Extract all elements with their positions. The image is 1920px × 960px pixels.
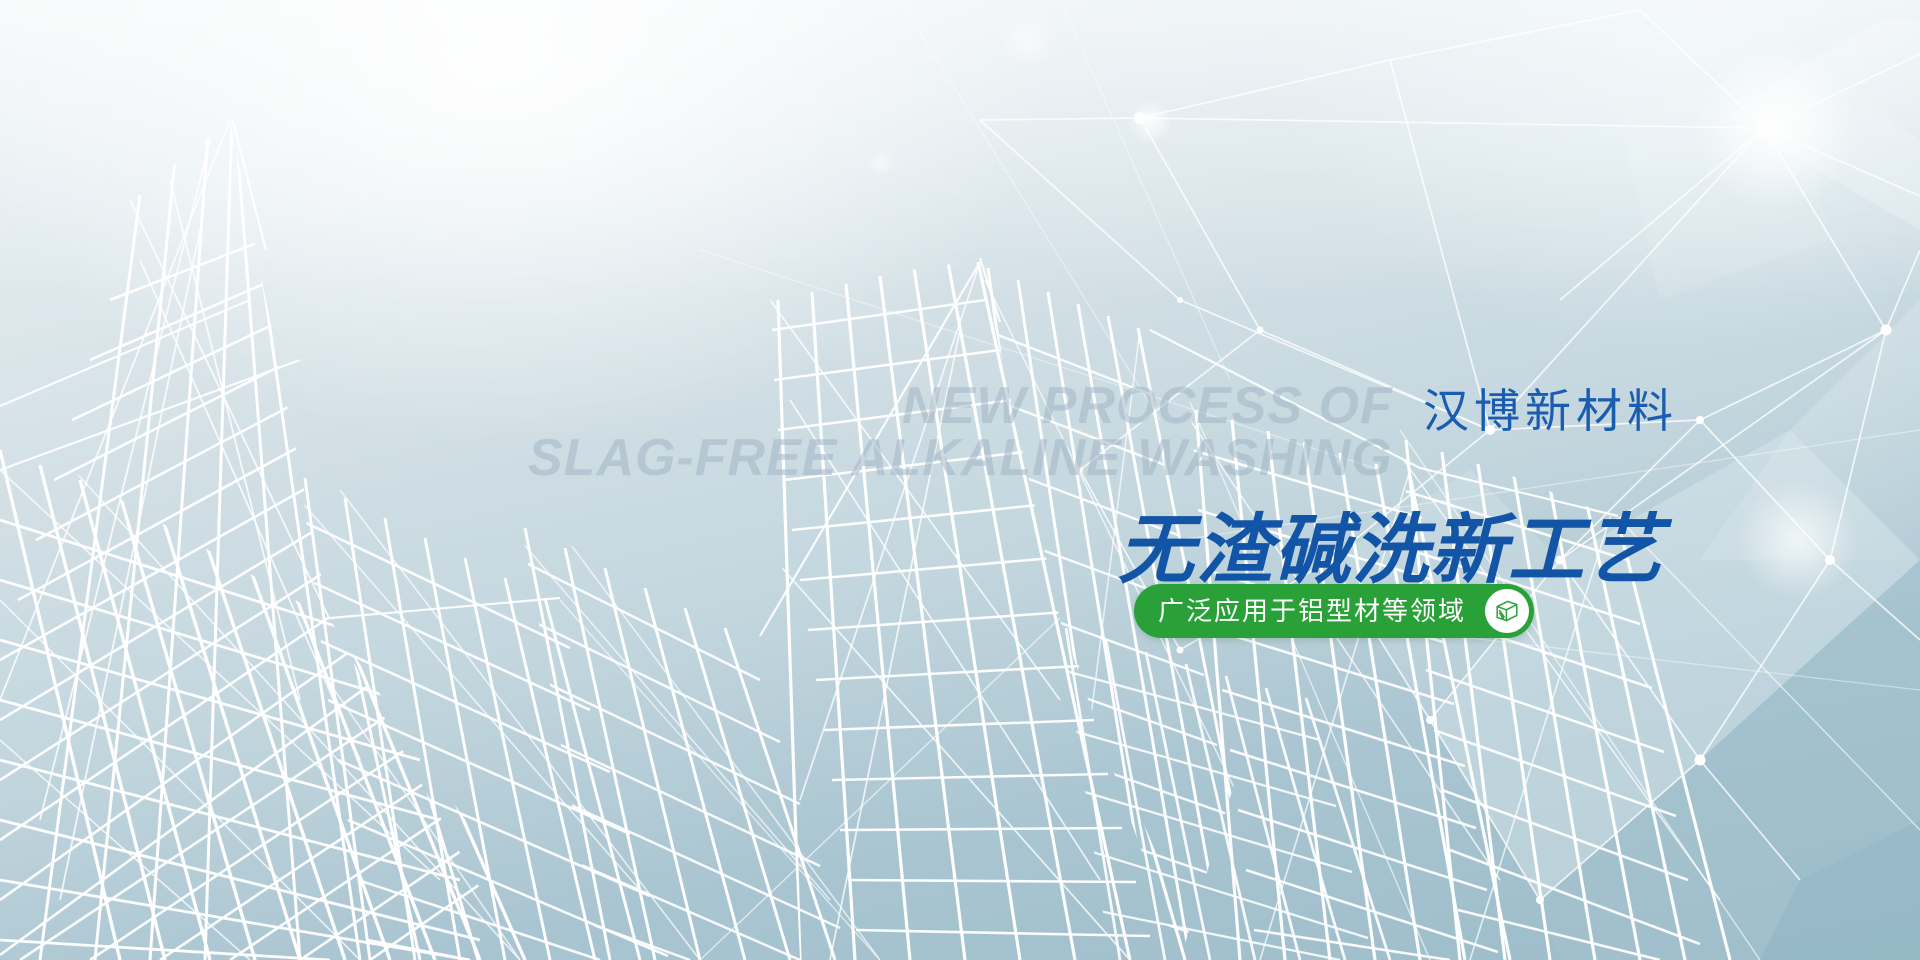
light-bloom-node <box>1738 480 1858 600</box>
light-bloom-node <box>1128 100 1172 144</box>
brand-name: 汉博新材料 <box>1423 386 1678 437</box>
top-light-sheen <box>0 0 1920 300</box>
banner-copy-block: NEW PROCESS OF SLAG-FREE ALKALINE WASHIN… <box>1120 380 1680 650</box>
page-title: 无渣碱洗新工艺 <box>1118 513 1664 589</box>
application-badge-label: 广泛应用于铝型材等领域 <box>1158 598 1466 624</box>
ghost-text-line-1: NEW PROCESS OF <box>902 380 1393 432</box>
light-bloom-node <box>1694 46 1858 210</box>
ghost-text-line-2: SLAG-FREE ALKALINE WASHING <box>528 432 1393 484</box>
light-bloom-node <box>1000 12 1056 68</box>
application-badge[interactable]: 广泛应用于铝型材等领域 <box>1134 584 1534 638</box>
aluminium-profile-icon <box>1485 589 1529 633</box>
light-bloom-node <box>868 150 894 176</box>
hero-banner: NEW PROCESS OF SLAG-FREE ALKALINE WASHIN… <box>0 0 1920 960</box>
